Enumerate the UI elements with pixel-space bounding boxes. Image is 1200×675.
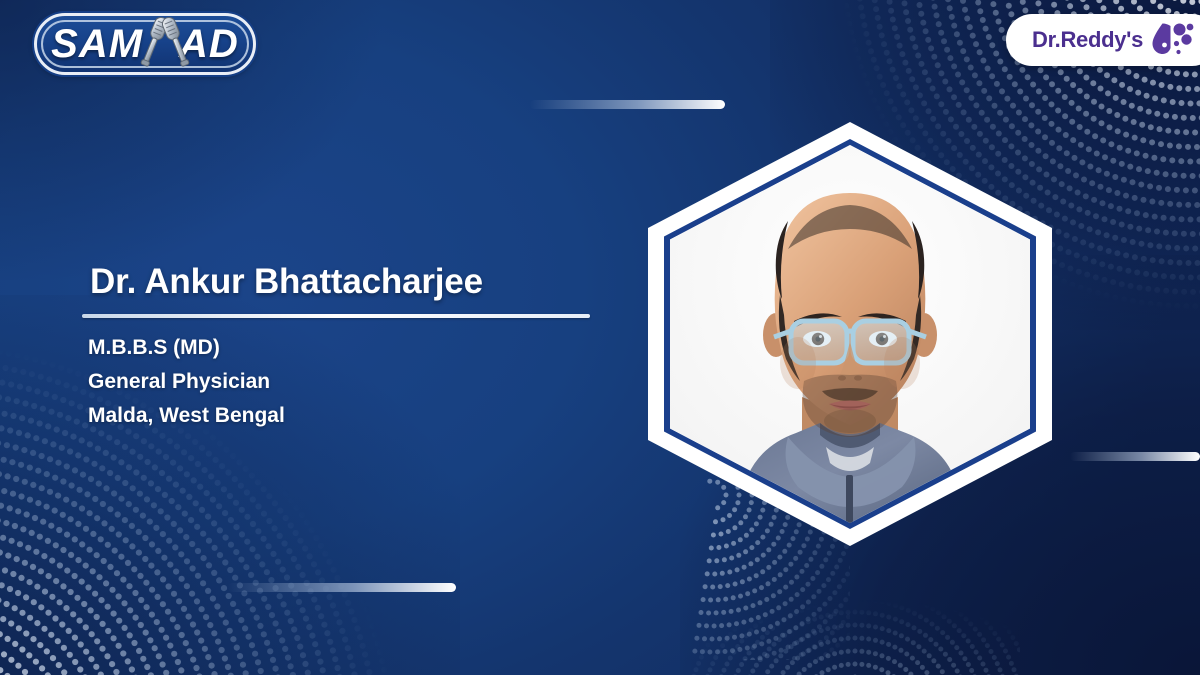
accent-bar-right — [1070, 452, 1200, 461]
doctor-location: Malda, West Bengal — [88, 404, 602, 428]
accent-bar-bottom — [228, 583, 456, 592]
doctor-specialty: General Physician — [88, 370, 602, 394]
dr-reddys-logo: Dr.Reddy's — [1006, 14, 1200, 66]
doctor-name: Dr. Ankur Bhattacharjee — [90, 262, 602, 302]
dr-reddys-wordmark: Dr.Reddy's — [1032, 27, 1143, 53]
accent-bar-top — [530, 100, 725, 109]
radial-dot-pattern-icon — [690, 555, 1020, 675]
hexagon-photo-frame — [648, 122, 1052, 546]
doctor-intro-slide: SAM AD — [0, 0, 1200, 675]
reddys-droplet-dots-icon — [1151, 22, 1195, 58]
name-divider — [82, 314, 590, 318]
doctor-qualification: M.B.B.S (MD) — [88, 336, 602, 360]
samvad-logo: SAM AD — [34, 13, 256, 75]
doctor-info-block: Dr. Ankur Bhattacharjee M.B.B.S (MD) Gen… — [82, 262, 602, 438]
crossed-microphones-icon — [130, 10, 200, 80]
